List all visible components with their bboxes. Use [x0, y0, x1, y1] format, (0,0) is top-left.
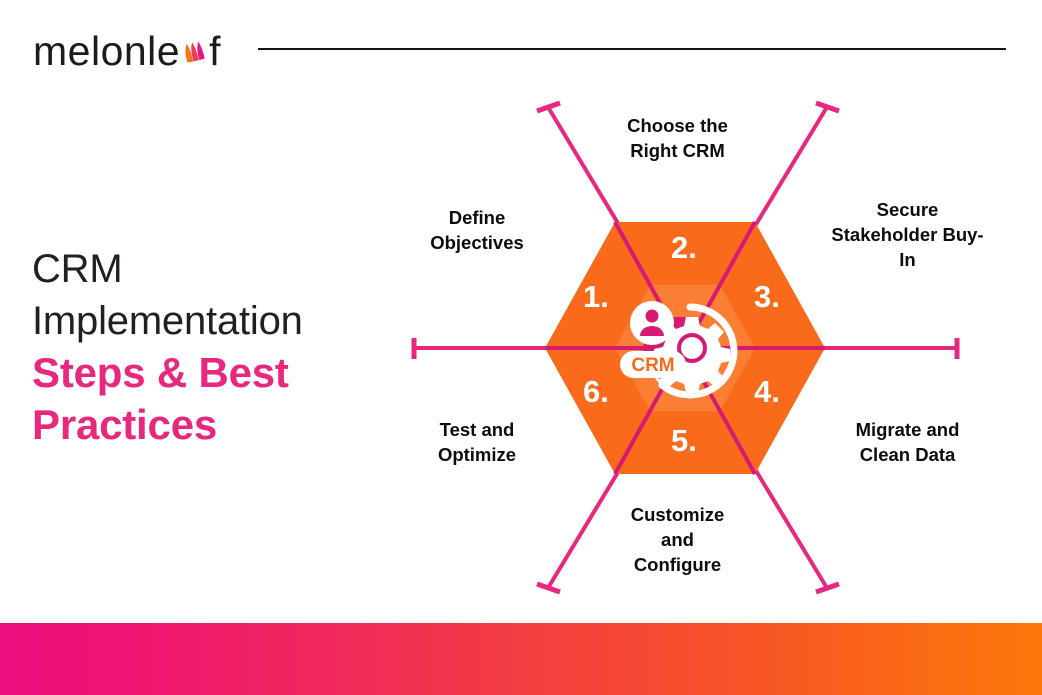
brand-logo-text-before: melonle — [33, 31, 180, 72]
title-accent-line-2: Practices — [32, 399, 362, 451]
header-divider-rule — [258, 48, 1006, 50]
wedge-number-1: 1. — [583, 281, 609, 312]
title-accent-line-1: Steps & Best — [32, 347, 362, 399]
brand-logo[interactable]: melonle f — [33, 28, 221, 74]
page-title: CRM Implementation Steps & Best Practice… — [32, 243, 362, 451]
title-line-2: Implementation — [32, 295, 362, 347]
step-label-6: Test and Optimize — [382, 417, 572, 467]
footer-gradient-band — [0, 623, 1042, 695]
hexagon-process-diagram: CRM 1. 2. 3. 4. 5. 6. Define Objectives … — [390, 85, 1010, 610]
leaf-mark-icon — [181, 40, 208, 70]
step-label-1: Define Objectives — [382, 205, 572, 255]
step-label-4: Migrate and Clean Data — [795, 417, 1020, 467]
slide-canvas: melonle f CRM Implementation Steps & Bes… — [0, 0, 1042, 695]
user-avatar-icon — [630, 301, 674, 345]
wedge-number-2: 2. — [671, 232, 697, 263]
step-label-2: Choose the Right CRM — [580, 113, 775, 163]
crm-pill-label: CRM — [620, 351, 686, 378]
step-label-3: Secure Stakeholder Buy- In — [795, 197, 1020, 272]
step-label-5: Customize and Configure — [580, 502, 775, 577]
wedge-number-4: 4. — [754, 376, 780, 407]
wedge-number-5: 5. — [671, 425, 697, 456]
brand-logo-text-after: f — [209, 31, 221, 72]
svg-text:CRM: CRM — [631, 355, 674, 376]
title-line-1: CRM — [32, 243, 362, 295]
wedge-number-6: 6. — [583, 376, 609, 407]
wedge-number-3: 3. — [754, 281, 780, 312]
